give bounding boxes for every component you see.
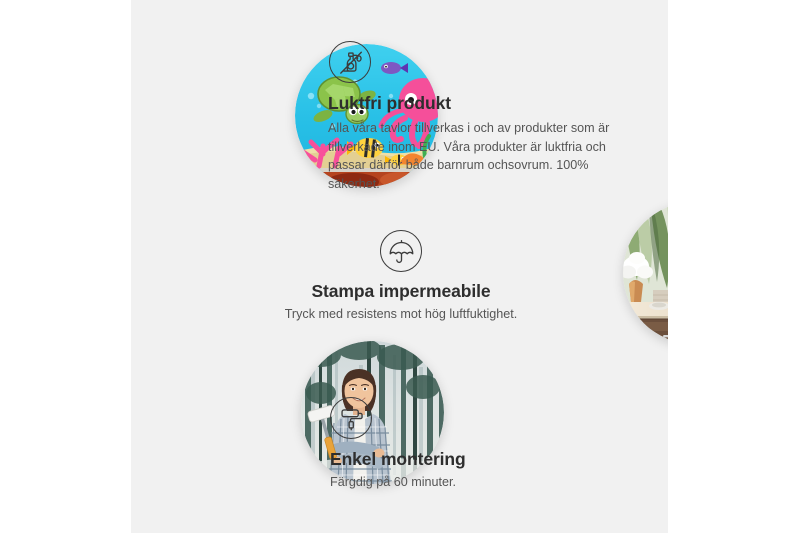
umbrella-icon [380,230,422,272]
feature-odourless: Luktfri produkt Alla våra tavlor tillver… [328,41,628,194]
feature-title: Luktfri produkt [328,93,628,114]
no-fragrance-icon [329,41,371,83]
bathroom-vanity-photo [623,202,668,344]
content-canvas: Luktfri produkt Alla våra tavlor tillver… [131,0,668,533]
paint-roller-icon [330,397,372,439]
feature-description: Alla våra tavlor tillverkas i och av pro… [328,119,620,194]
page-root: Luktfri produkt Alla våra tavlor tillver… [0,0,800,533]
feature-title: Enkel montering [330,449,610,470]
feature-title: Stampa impermeabile [311,281,490,302]
feature-description: Tryck med resistens mot hög luftfuktighe… [285,305,518,324]
feature-assembly: Enkel montering Färgdig på 60 minuter. [330,397,610,492]
feature-description: Färgdig på 60 minuter. [330,473,610,492]
feature-waterproof: Stampa impermeabile Tryck med resistens … [221,230,581,324]
